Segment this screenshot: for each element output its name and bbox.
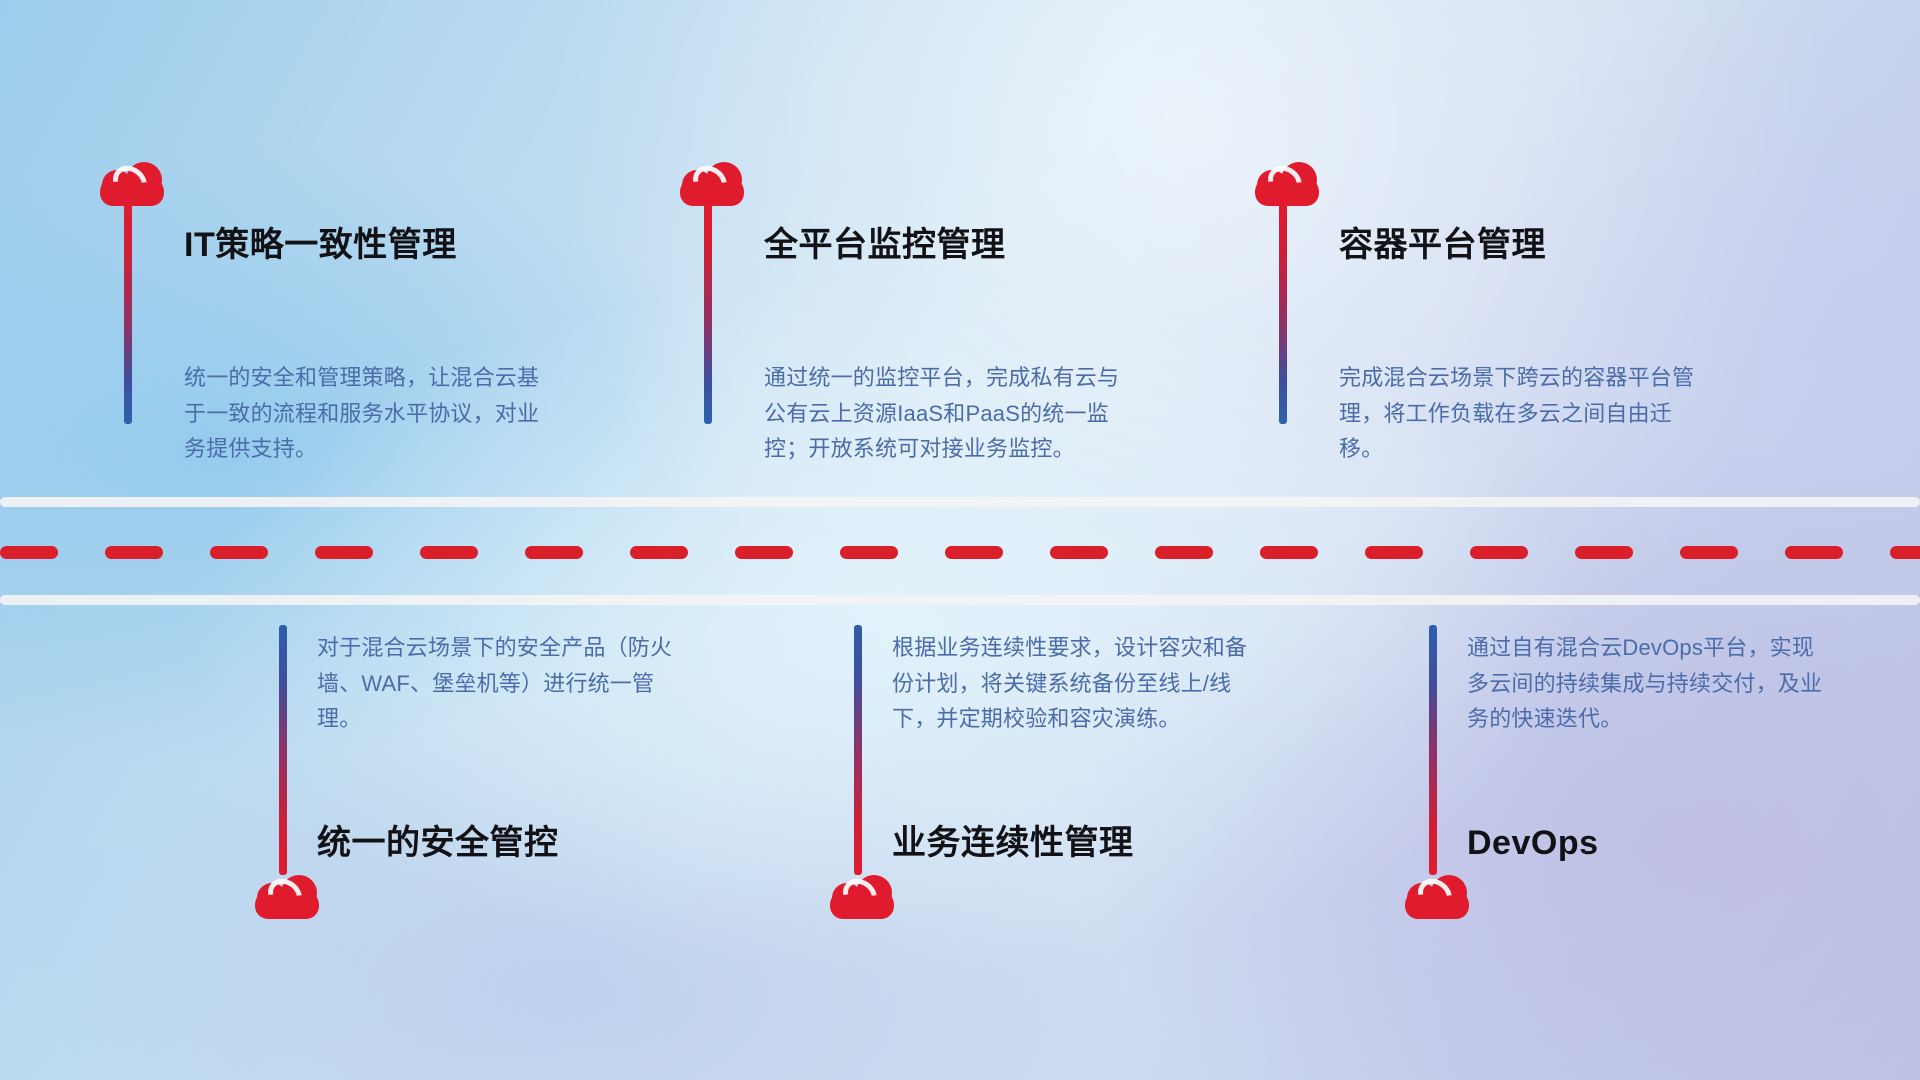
pin-stem: [279, 625, 287, 875]
top-item-1-description: 统一的安全和管理策略，让混合云基于一致的流程和服务水平协议，对业务提供支持。: [184, 360, 544, 467]
road-dash: [1260, 546, 1318, 559]
road-dash: [945, 546, 1003, 559]
road-dash: [1785, 546, 1843, 559]
top-item-2-title: 全平台监控管理: [764, 225, 1006, 266]
top-item-3-title: 容器平台管理: [1339, 225, 1546, 266]
road-dash: [420, 546, 478, 559]
road-dash: [1470, 546, 1528, 559]
bottom-item-2-description: 根据业务连续性要求，设计容灾和备份计划，将关键系统备份至线上/线下，并定期校验和…: [892, 630, 1252, 737]
road-dash: [735, 546, 793, 559]
road-dash: [1680, 546, 1738, 559]
bottom-item-2-title: 业务连续性管理: [892, 823, 1134, 864]
road-dash: [840, 546, 898, 559]
road-dash: [1050, 546, 1108, 559]
road-dash: [1575, 546, 1633, 559]
road-dash: [1155, 546, 1213, 559]
bottom-item-1-description: 对于混合云场景下的安全产品（防火墙、WAF、堡垒机等）进行统一管理。: [317, 630, 677, 737]
road-line-bottom: [0, 595, 1920, 605]
cloud-icon: [100, 160, 164, 206]
bottom-item-1-title: 统一的安全管控: [317, 823, 559, 864]
top-item-2-description: 通过统一的监控平台，完成私有云与公有云上资源IaaS和PaaS的统一监控；开放系…: [764, 360, 1124, 467]
road-dash: [0, 546, 58, 559]
infographic-canvas: IT策略一致性管理 统一的安全和管理策略，让混合云基于一致的流程和服务水平协议，…: [0, 0, 1920, 1080]
road-dash: [525, 546, 583, 559]
pin-stem: [124, 204, 132, 424]
top-item-3-description: 完成混合云场景下跨云的容器平台管理，将工作负载在多云之间自由迁移。: [1339, 360, 1699, 467]
bottom-item-3-description: 通过自有混合云DevOps平台，实现多云间的持续集成与持续交付，及业务的快速迭代…: [1467, 630, 1827, 737]
cloud-icon: [1255, 160, 1319, 206]
road-line-top: [0, 497, 1920, 507]
road-dash: [210, 546, 268, 559]
pin-stem: [854, 625, 862, 875]
road-dash: [105, 546, 163, 559]
bottom-item-3-title: DevOps: [1467, 823, 1599, 864]
pin-stem: [704, 204, 712, 424]
pin-stem: [1279, 204, 1287, 424]
cloud-icon: [680, 160, 744, 206]
road-dashes: [0, 546, 1920, 559]
cloud-icon: [255, 873, 319, 919]
road-dash: [315, 546, 373, 559]
road-dash: [1365, 546, 1423, 559]
cloud-icon: [1405, 873, 1469, 919]
road-dash: [1890, 546, 1920, 559]
cloud-icon: [830, 873, 894, 919]
pin-stem: [1429, 625, 1437, 875]
top-item-1-title: IT策略一致性管理: [184, 225, 457, 266]
road-dash: [630, 546, 688, 559]
